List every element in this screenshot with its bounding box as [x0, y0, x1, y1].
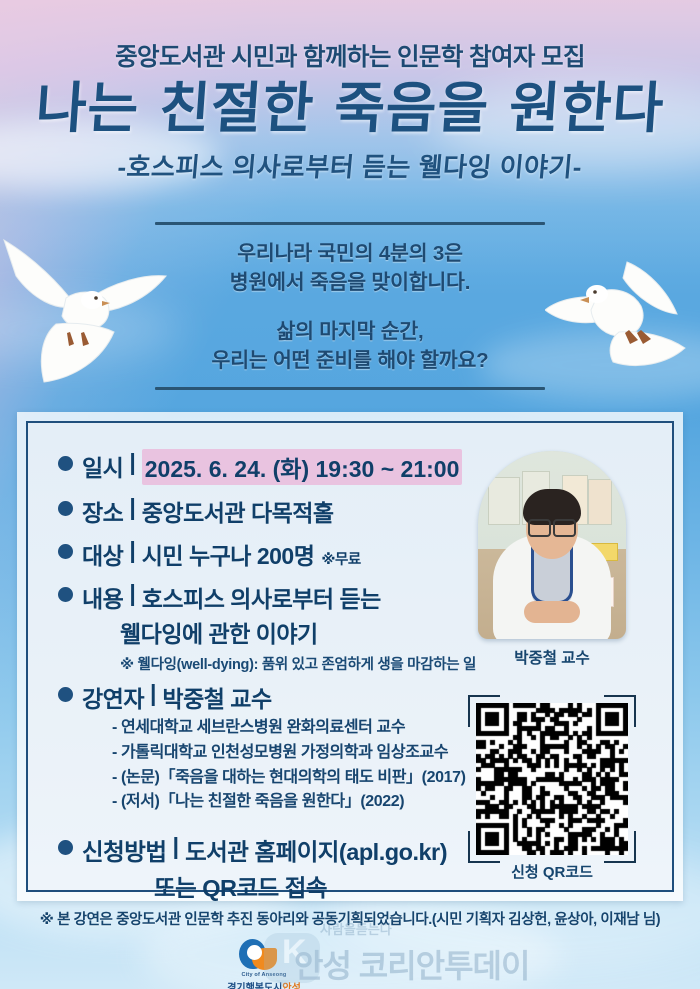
city-logo-ko: 안성 [282, 983, 300, 989]
detail-value-apply[interactable]: 도서관 홈페이지(apl.go.kr) [185, 833, 447, 867]
city-logo-en: City of Anseong [225, 972, 303, 978]
details-panel-border: 일시 | 2025. 6. 24. (화) 19:30 ~ 21:00 장소 |… [26, 421, 674, 892]
detail-value-date: 2025. 6. 24. (화) 19:30 ~ 21:00 [142, 449, 463, 485]
footer-note: ※ 본 강연은 중앙도서관 인문학 추진 동아리와 공동기획되었습니다.(시민 … [0, 908, 700, 929]
city-logo-ko-small: 경기행복도시 [227, 983, 282, 989]
detail-row-audience: 대상 | 시민 누구나 200명※무료 [58, 537, 528, 571]
credential-item: - (저서)「나는 친절한 죽음을 원한다」(2022) [112, 790, 528, 815]
bullet-icon [58, 840, 73, 855]
bullet-icon [58, 501, 73, 516]
detail-label-date: 일시 [82, 449, 123, 483]
qr-code-image[interactable] [476, 703, 628, 855]
qr-section: 신청 QR코드 [472, 703, 632, 882]
poster-header: 중앙도서관 시민과 함께하는 인문학 참여자 모집 나는 친절한 죽음을 원한다… [0, 38, 700, 184]
detail-label-audience: 대상 [82, 537, 123, 571]
poster-footer: ※ 본 강연은 중앙도서관 인문학 추진 동아리와 공동기획되었습니다.(시민 … [0, 908, 700, 989]
bullet-icon [58, 456, 73, 471]
bullet-icon [58, 687, 73, 702]
detail-value-content: 호스피스 의사로부터 듣는 [142, 580, 381, 614]
anseong-city-logo: City of Anseong 경기행복도시안성 [225, 937, 303, 989]
credential-item: - (논문)「죽음을 대하는 현대의학의 태도 비판」(2017) [112, 766, 528, 791]
detail-label-content: 내용 [82, 580, 123, 614]
bullet-icon [58, 544, 73, 559]
lead-line-3: 삶의 마지막 순간, [0, 317, 700, 346]
detail-value-audience: 시민 누구나 200명 [142, 543, 315, 569]
divider-bottom [155, 387, 545, 390]
separator: | [129, 449, 135, 476]
detail-row-speaker: 강연자 | 박중철 교수 [58, 680, 528, 714]
detail-row-place: 장소 | 중앙도서관 다목적홀 [58, 494, 528, 528]
credential-item: - 가톨릭대학교 인천성모병원 가정의학과 임상조교수 [112, 741, 528, 766]
portrait-caption: 박중철 교수 [478, 646, 626, 668]
detail-content-line2: 웰다잉에 관한 이야기 [120, 615, 528, 649]
detail-row-content: 내용 | 호스피스 의사로부터 듣는 [58, 580, 528, 614]
welldying-note: ※ 웰다잉(well-dying): 품위 있고 존엄하게 생을 마감하는 일 [120, 653, 528, 674]
separator: | [129, 580, 135, 607]
poster-subtitle: -호스피스 의사로부터 듣는 웰다잉 이야기- [0, 147, 700, 184]
detail-label-place: 장소 [82, 494, 123, 528]
separator: | [150, 680, 156, 707]
speaker-photo [478, 451, 626, 639]
detail-value-speaker: 박중철 교수 [162, 680, 271, 714]
poster-title: 나는 친절한 죽음을 원한다 [0, 79, 700, 137]
lead-line-1: 우리나라 국민의 4분의 3은 [0, 239, 700, 268]
detail-row-date: 일시 | 2025. 6. 24. (화) 19:30 ~ 21:00 [58, 449, 528, 485]
lead-block: 우리나라 국민의 4분의 3은 병원에서 죽음을 맞이합니다. 삶의 마지막 순… [0, 222, 700, 390]
separator: | [129, 494, 135, 521]
watermark-title: 안성 코리안투데이 [294, 941, 529, 987]
qr-caption: 신청 QR코드 [472, 861, 632, 882]
separator: | [172, 833, 179, 860]
detail-label-speaker: 강연자 [82, 680, 144, 714]
details-panel: 일시 | 2025. 6. 24. (화) 19:30 ~ 21:00 장소 |… [17, 412, 683, 901]
speaker-portrait: 박중철 교수 [478, 451, 626, 668]
speaker-credentials: - 연세대학교 세브란스병원 완화의료센터 교수 - 가톨릭대학교 인천성모병원… [112, 716, 528, 815]
bullet-icon [58, 587, 73, 602]
city-mark-icon [239, 937, 289, 971]
detail-value-place: 중앙도서관 다목적홀 [142, 494, 334, 528]
detail-note-free: ※무료 [321, 552, 360, 568]
credential-item: - 연세대학교 세브란스병원 완화의료센터 교수 [112, 716, 528, 741]
poster-root: 중앙도서관 시민과 함께하는 인문학 참여자 모집 나는 친절한 죽음을 원한다… [0, 0, 700, 989]
header-kicker: 중앙도서관 시민과 함께하는 인문학 참여자 모집 [0, 38, 700, 73]
details-list: 일시 | 2025. 6. 24. (화) 19:30 ~ 21:00 장소 |… [58, 449, 528, 903]
lead-line-4: 우리는 어떤 준비를 해야 할까요? [0, 346, 700, 375]
separator: | [129, 537, 135, 564]
lead-line-2: 병원에서 죽음을 맞이합니다. [0, 268, 700, 297]
detail-row-apply: 신청방법 | 도서관 홈페이지(apl.go.kr) [58, 833, 528, 867]
detail-label-apply: 신청방법 [82, 833, 166, 867]
